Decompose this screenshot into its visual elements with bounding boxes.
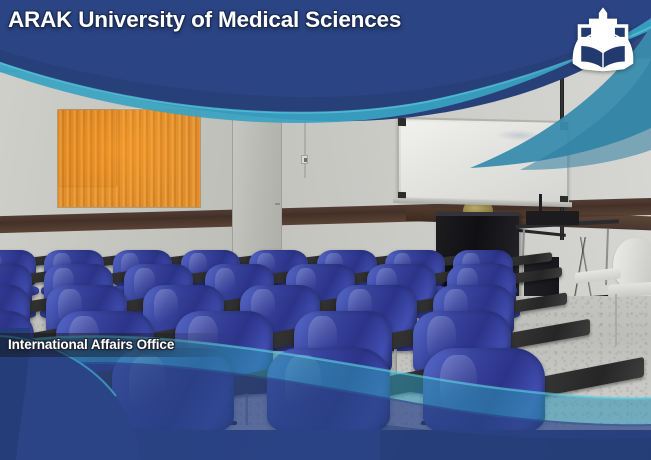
chair-back	[267, 348, 389, 430]
chair-leg	[245, 391, 248, 424]
door-handle-icon	[275, 203, 280, 205]
tablet-arm-chair	[423, 348, 545, 430]
whiteboard-surface	[401, 121, 565, 201]
grey-tablet-chair-back	[613, 238, 651, 288]
cable-bundle	[559, 237, 605, 297]
light-switch-plate	[301, 155, 308, 164]
tablet-arm-chair	[0, 348, 79, 430]
university-banner: ARAK University of Medical Sciences Inte…	[0, 0, 651, 460]
whiteboard-corner-bracket	[398, 118, 406, 126]
classroom-photo-content	[0, 58, 651, 430]
page-title: ARAK University of Medical Sciences	[8, 7, 401, 33]
chair-back	[112, 348, 234, 430]
university-crest-open-book-icon	[567, 6, 639, 72]
chair-back	[0, 348, 79, 430]
whiteboard-corner-bracket	[560, 122, 568, 130]
tablet-arm-chair	[112, 348, 234, 430]
grey-tablet-chair-legs	[615, 294, 651, 346]
chair-back	[423, 348, 545, 430]
classroom-photo	[0, 58, 651, 430]
projector-unit	[526, 211, 579, 226]
orange-vertical-blinds	[58, 110, 200, 207]
crest-svg	[567, 6, 639, 72]
subtitle-label: International Affairs Office	[8, 337, 174, 352]
whiteboard	[397, 117, 569, 205]
tablet-arm-chair	[267, 348, 389, 430]
chair-leg	[394, 349, 397, 376]
